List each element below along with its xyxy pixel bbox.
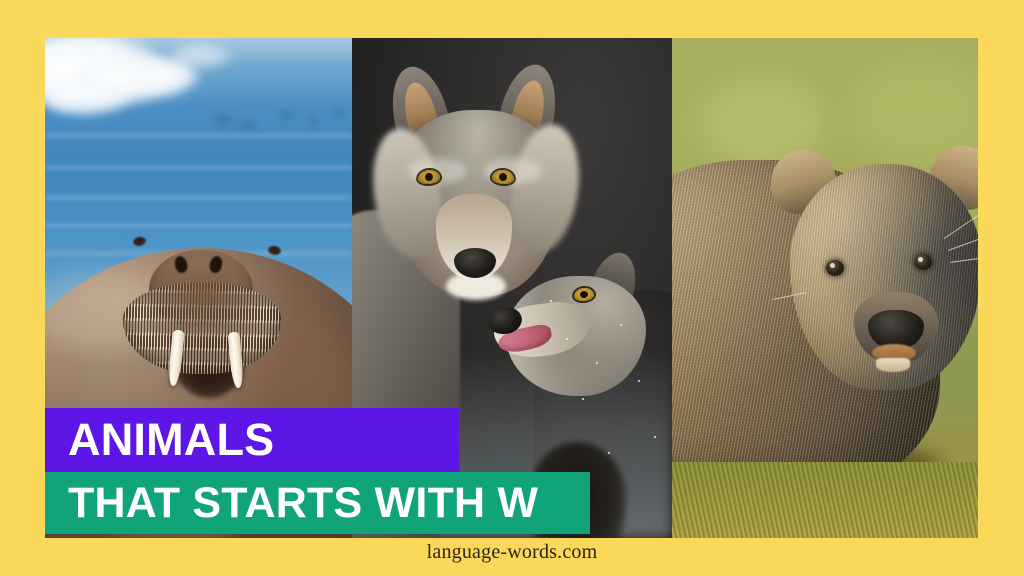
frost-fleck xyxy=(596,362,598,364)
frost-fleck xyxy=(566,338,568,340)
title-line-2: THAT STARTS WITH W xyxy=(68,479,538,528)
poster-canvas: ANIMALS THAT STARTS WITH W language-word… xyxy=(0,0,1024,576)
frost-fleck xyxy=(638,380,640,382)
wombat-scene xyxy=(672,38,978,538)
wombat-eye xyxy=(826,260,844,276)
distant-seal xyxy=(307,118,319,123)
wombat-teeth xyxy=(876,358,910,372)
sea-streak xyxy=(45,166,352,169)
frost-fleck xyxy=(608,452,610,454)
title-banner-secondary: THAT STARTS WITH W xyxy=(45,472,590,534)
ice-floe xyxy=(45,82,131,116)
sea-streak xyxy=(45,134,352,137)
distant-seal xyxy=(331,110,345,115)
grass-foreground xyxy=(672,462,978,538)
distant-seal xyxy=(213,116,233,123)
title-banner-primary: ANIMALS xyxy=(45,408,459,472)
ice-floe xyxy=(173,44,233,70)
distant-seal xyxy=(279,112,295,118)
photo-wombat xyxy=(672,38,978,538)
title-line-1: ANIMALS xyxy=(68,414,274,466)
walrus-eye xyxy=(132,236,147,248)
site-url: language-words.com xyxy=(0,541,1024,564)
frost-fleck xyxy=(550,300,552,302)
sea-streak xyxy=(45,196,352,199)
sea-streak xyxy=(45,224,352,227)
walrus-whiskers xyxy=(123,282,281,374)
wombat-head xyxy=(768,142,978,402)
frost-fleck xyxy=(582,398,584,400)
frost-fleck xyxy=(654,436,656,438)
frost-fleck xyxy=(620,324,622,326)
distant-seal xyxy=(241,122,255,128)
wombat-eye xyxy=(914,254,932,270)
